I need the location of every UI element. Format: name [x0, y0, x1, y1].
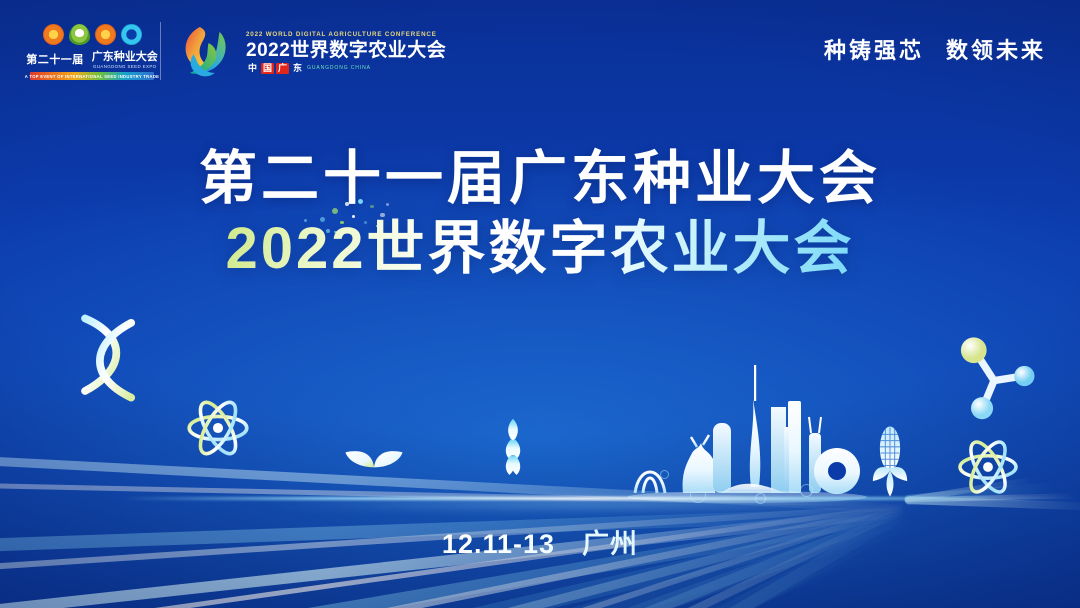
expo-title-cn: 广东种业大会 — [92, 51, 158, 63]
wdac-title-en: 2022 WORLD DIGITAL AGRICULTURE CONFERENC… — [246, 32, 446, 38]
poster-title-block: 第二十一届广东种业大会 2022世界数字农业大会 — [0, 148, 1080, 282]
poster-header: 第二十一届 广东种业大会 GUANGDONG SEED EXPO A TOP E… — [0, 0, 1080, 104]
event-date-location: 12.11-13 广州 — [0, 522, 1080, 561]
wdac-swirl-icon — [175, 22, 237, 84]
wdac-location-en: GUANGDONG CHINA — [307, 66, 371, 71]
seed-circles-icon — [30, 24, 154, 45]
guangdong-seed-expo-logo: 第二十一届 广东种业大会 GUANGDONG SEED EXPO A TOP E… — [30, 24, 154, 80]
seed-circle-yellow-icon — [95, 24, 116, 45]
wdac-title-cn: 2022世界数字农业大会 — [246, 41, 446, 60]
wdac-logo: 2022 WORLD DIGITAL AGRICULTURE CONFERENC… — [175, 22, 446, 84]
badge-zhong: 中 — [246, 63, 259, 74]
china-guangdong-badge: 中 国 广 东 — [246, 63, 304, 74]
expo-title-en: GUANGDONG SEED EXPO — [92, 65, 158, 69]
badge-dong: 东 — [291, 63, 304, 74]
badge-guo: 国 — [261, 63, 274, 74]
seed-leaf-green-icon — [69, 24, 90, 45]
slogan-left: 种铸强芯 — [824, 38, 924, 63]
header-slogan: 种铸强芯数领未来 — [824, 33, 1046, 65]
slogan-right: 数领未来 — [946, 38, 1046, 63]
main-title-line1: 第二十一届广东种业大会 — [0, 148, 1080, 211]
seed-circle-blue-icon — [121, 24, 142, 45]
conference-poster: 第二十一届 广东种业大会 GUANGDONG SEED EXPO A TOP E… — [0, 0, 1080, 608]
badge-guang: 广 — [276, 63, 289, 74]
expo-tagline-en: A TOP EVENT OF INTERNATIONAL SEED INDUST… — [25, 74, 159, 79]
event-date: 12.11-13 — [442, 529, 555, 559]
seed-circle-orange-icon — [43, 24, 64, 45]
main-title-line2: 2022世界数字农业大会 — [225, 217, 854, 282]
event-city: 广州 — [582, 529, 638, 559]
expo-tagline-bar: A TOP EVENT OF INTERNATIONAL SEED INDUST… — [30, 72, 154, 80]
expo-edition-label: 第二十一届 — [26, 51, 84, 67]
header-separator — [160, 22, 161, 80]
